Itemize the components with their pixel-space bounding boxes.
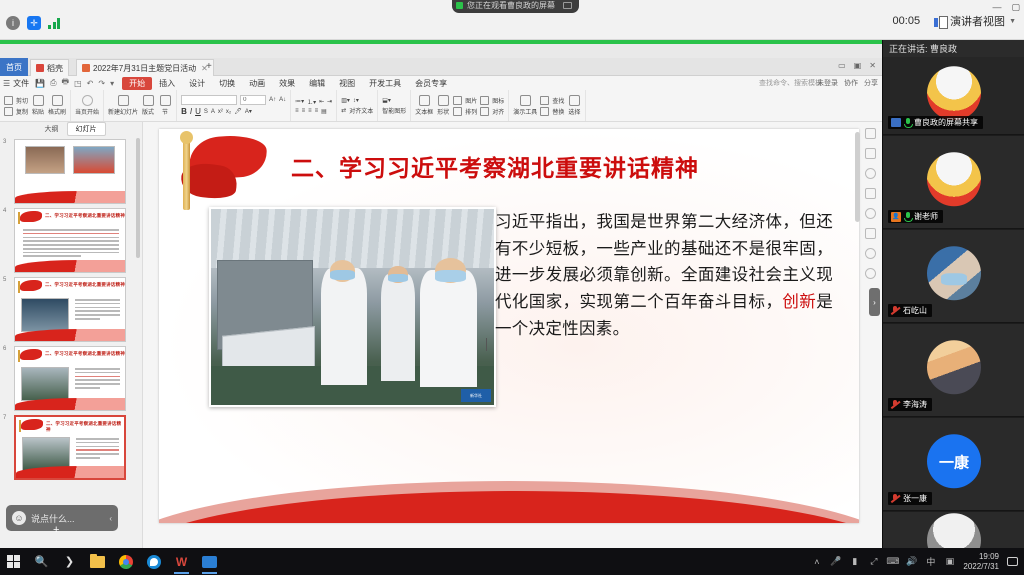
thumbnail-card[interactable]: 二、学习习近平考察湖北重要讲话精神 <box>14 415 126 480</box>
picture-icon <box>453 96 462 105</box>
notification-center-icon[interactable] <box>1007 557 1018 566</box>
bullets-button[interactable]: ≔▾ <box>295 98 304 105</box>
flag-icon <box>17 349 43 362</box>
minimize-icon[interactable]: ▭ <box>838 61 846 70</box>
slide-side-toolbar <box>862 128 878 279</box>
thumbnail-number: 7 <box>3 415 6 421</box>
search-icon[interactable]: 🔍 <box>34 554 49 569</box>
ribbon-tab-start[interactable]: 开始 <box>122 77 152 90</box>
network-icon[interactable]: ⤢ <box>868 556 879 567</box>
print-icon[interactable]: 🖶 <box>62 76 70 90</box>
thumbnail-title: 二、学习习近平考察湖北重要讲话精神 <box>46 421 124 433</box>
bold-button[interactable]: B <box>181 107 187 116</box>
paste-button[interactable]: 粘贴 <box>31 95 45 116</box>
system-tray: ˄ 🎤 ▮ ⤢ ⌨ 🔊 中 ▣ 19:09 2022/7/31 <box>811 552 1018 570</box>
font-name-input[interactable] <box>181 95 237 105</box>
list-item-selected[interactable]: 7 二、学习习近平考察湖北重要讲话精神 <box>14 415 133 480</box>
present-tools-icon <box>520 95 531 106</box>
share-active-border <box>0 40 882 44</box>
layout-icon <box>143 95 154 106</box>
ribbon-tab-developer[interactable]: 开发工具 <box>362 78 408 89</box>
task-view-icon[interactable]: ❯ <box>62 554 77 569</box>
strikethrough-button[interactable]: S <box>204 109 208 115</box>
network-signal-icon[interactable] <box>48 17 62 29</box>
volume-icon[interactable]: 🔊 <box>906 556 917 567</box>
find-button[interactable]: 查找 <box>540 96 564 105</box>
thumbnail-body-lines <box>23 229 119 259</box>
meeting-timer: 00:05 <box>893 15 921 27</box>
slide-bottom-wave-decoration <box>159 461 859 523</box>
participant-name-tag: 李海涛 <box>888 398 932 411</box>
screen-share-icon <box>891 118 901 127</box>
participant-name: 曹良政的屏幕共享 <box>914 117 978 128</box>
active-speaker-label: 正在讲话: 曹良政 <box>883 40 1024 57</box>
ribbon-tab-effects[interactable]: 效果 <box>272 78 302 89</box>
maximize-icon[interactable]: ▢ <box>1011 2 1020 13</box>
thumbnail-wave <box>15 191 125 203</box>
print-preview-icon[interactable]: ◳ <box>74 79 82 88</box>
file-explorer-icon[interactable] <box>90 554 105 569</box>
windows-taskbar: 🔍 ❯ W ˄ 🎤 ▮ ⤢ ⌨ 🔊 中 ▣ 19:09 2022/7/31 <box>0 548 1024 575</box>
wps-menu-bar: ☰ 文件 💾 ⎙ 🖶 ◳ ↶ ↷ ▾ 开始 插入 设计 切换 动画 效果 编辑 <box>0 76 882 90</box>
align-center-button[interactable]: ≡ <box>302 108 306 114</box>
decrease-indent-button[interactable]: ⇤ <box>319 98 324 105</box>
list-item[interactable]: 5 二、学习习近平考察湖北重要讲话精神 <box>14 277 133 342</box>
smartart-group: ⬓▾ 智能图形 <box>378 90 411 122</box>
avatar: 一康 <box>927 434 981 488</box>
ribbon-tab-transition[interactable]: 切换 <box>212 78 242 89</box>
avatar <box>927 66 981 120</box>
slide-thumbnail-pane: 大纲 幻灯片 3 4 <box>0 122 143 550</box>
convert-to-smartart-button[interactable]: ⬓▾ <box>382 97 391 104</box>
participant-name: 石屹山 <box>903 305 927 316</box>
slide-canvas[interactable]: 二、学习习近平考察湖北重要讲话精神 新华社 习近平指 <box>159 129 859 523</box>
menu-file[interactable]: 文件 <box>13 78 29 89</box>
thumbnail-card[interactable]: 二、学习习近平考察湖北重要讲话精神 <box>14 208 126 273</box>
thumbnail-number: 5 <box>3 277 6 283</box>
superscript-button[interactable]: x² <box>218 109 223 115</box>
flower-icon[interactable] <box>865 248 876 259</box>
copy-button[interactable]: 复制 <box>4 107 28 116</box>
ribbon-tab-edit[interactable]: 编辑 <box>302 78 332 89</box>
ppt-icon <box>82 64 90 72</box>
present-group: 当页开始 <box>71 90 104 122</box>
microphone-muted-icon <box>891 306 900 316</box>
thumbnail-title: 二、学习习近平考察湖北重要讲话精神 <box>45 351 125 357</box>
present-tools-button[interactable]: 演示工具 <box>513 95 537 116</box>
thumbnail-number: 4 <box>3 208 6 214</box>
microphone-on-icon <box>904 212 911 222</box>
wps-home-tab[interactable]: 首页 <box>0 58 28 76</box>
restore-icon[interactable]: ▣ <box>854 61 862 70</box>
new-slide-icon <box>118 95 129 106</box>
hamburger-icon[interactable]: ☰ <box>3 79 10 88</box>
slide-editor-pane[interactable]: 二、学习习近平考察湖北重要讲话精神 新华社 习近平指 <box>143 122 882 550</box>
avatar <box>927 152 981 206</box>
participant-name: 张一康 <box>903 493 927 504</box>
add-attachment-icon[interactable]: + <box>53 524 59 536</box>
shrink-font-icon[interactable]: A↓ <box>279 97 286 103</box>
text-box-icon <box>419 95 430 106</box>
subscript-button[interactable]: x₂ <box>226 109 231 115</box>
columns-button[interactable]: ▥▾ <box>341 97 350 104</box>
align-text-button[interactable]: 对齐文本 <box>349 106 373 115</box>
insert-objects-group: 文本框 形状 图片 排列 图标 对齐 <box>411 90 509 122</box>
clipboard-group: 剪切 复制 粘贴 格式刷 <box>0 90 71 122</box>
collapse-chat-icon[interactable]: ‹ <box>109 514 112 523</box>
login-status[interactable]: 未登录 <box>817 78 838 88</box>
flag-icon <box>17 280 43 293</box>
avatar <box>927 246 981 300</box>
participant-name-tag: 👤 谢老师 <box>888 210 943 223</box>
keyboard-icon[interactable]: ⌨ <box>887 556 898 567</box>
format-painter-button[interactable]: 格式刷 <box>48 95 66 116</box>
thumbnail-image <box>21 298 69 332</box>
wps-tab-presentation-label: 2022年7月31日主题党日活动 <box>93 63 196 74</box>
participant-name: 谢老师 <box>914 211 938 222</box>
docer-icon <box>36 64 44 72</box>
thumbnail-wave <box>15 329 125 341</box>
wps-window-buttons[interactable]: ▭ ▣ ✕ <box>838 61 876 70</box>
thumbnail-body-lines <box>76 438 119 461</box>
italic-button[interactable]: I <box>190 107 192 116</box>
slides-group: 新建幻灯片 版式 节 <box>104 90 177 122</box>
thumbnail-body-lines <box>75 299 120 322</box>
slide-photo[interactable]: 新华社 <box>209 207 496 407</box>
tab-slides[interactable]: 幻灯片 <box>67 122 106 136</box>
participant-name-tag: 张一康 <box>888 492 932 505</box>
text-box-button[interactable]: 文本框 <box>415 95 433 116</box>
meeting-app-icon[interactable] <box>202 554 217 569</box>
chat-placeholder: 说点什么... <box>31 512 75 525</box>
settings-gear-icon[interactable] <box>865 168 876 179</box>
view-mode-label: 演讲者视图 <box>950 13 1005 29</box>
thumbnail-number: 6 <box>3 346 6 352</box>
save-as-icon[interactable]: ⎙ <box>50 78 56 88</box>
wps-menu-right: 未登录 协作 分享 <box>817 78 878 88</box>
wps-editing-area: 大纲 幻灯片 3 4 <box>0 122 882 550</box>
slide-body-text[interactable]: 习近平指出，我国是世界第二大经济体，但还有不少短板，一些产业的基础还不是很牢固，… <box>495 209 833 343</box>
icon-button[interactable]: 图标 <box>480 96 504 105</box>
qq-browser-icon[interactable] <box>146 554 161 569</box>
arrange-button[interactable]: 排列 <box>453 107 477 116</box>
thumbnail-list[interactable]: 3 4 二、学习习近平考察湖北重要讲话精神 <box>0 136 143 534</box>
play-icon <box>82 95 93 106</box>
meeting-top-bar: 您正在观看曹良政的屏幕 i ✛ — ▢ 00:05 演讲者视图 ▼ <box>0 0 1024 40</box>
wps-ribbon-toolbar: 剪切 复制 粘贴 格式刷 当页开始 新建幻灯片 版式 节 <box>0 90 882 122</box>
text-cursor <box>486 338 487 351</box>
chrome-icon[interactable] <box>118 554 133 569</box>
copy-icon <box>4 107 13 116</box>
speaker-view-icon <box>934 16 946 27</box>
participant-strip: 正在讲话: 曹良政 曹良政的屏幕共享 👤 谢老师 石屹山 <box>882 40 1024 575</box>
grow-font-icon[interactable]: A↑ <box>269 97 276 103</box>
avatar <box>927 340 981 394</box>
qat-more-icon[interactable]: ▾ <box>110 79 114 88</box>
thumbnail-title: 二、学习习近平考察湖北重要讲话精神 <box>45 282 125 288</box>
participant-name-tag: 石屹山 <box>888 304 932 317</box>
ribbon-tab-insert[interactable]: 插入 <box>152 78 182 89</box>
increase-indent-button[interactable]: ⇥ <box>327 98 332 105</box>
thumbnail-card[interactable]: 二、学习习近平考察湖北重要讲话精神 <box>14 277 126 342</box>
quick-access-toolbar: 💾 ⎙ 🖶 ◳ ↶ ↷ ▾ <box>35 76 114 90</box>
ribbon-tab-view[interactable]: 视图 <box>332 78 362 89</box>
flag-icon <box>18 419 44 432</box>
font-group: A↑ A↓ B I U S A x² x₂ 🖊 A▾ <box>177 90 291 122</box>
chevron-down-icon: ▼ <box>1009 18 1016 25</box>
arrange-icon <box>453 107 462 116</box>
cog-icon[interactable] <box>865 268 876 279</box>
minimize-icon[interactable]: — <box>992 2 1001 13</box>
slide-vertical-scrollbar[interactable] <box>855 132 860 222</box>
command-search-box[interactable]: 查找命令、搜索模板 <box>759 78 822 88</box>
paste-icon <box>33 95 44 106</box>
tab-outline[interactable]: 大纲 <box>37 123 67 135</box>
wps-tab-docer-label: 稻壳 <box>47 63 63 74</box>
numbering-button[interactable]: ⒈▾ <box>307 97 316 106</box>
slide-body-highlight: 创新 <box>782 292 816 311</box>
thumbnail-number: 3 <box>3 139 6 145</box>
justify-button[interactable]: ≡ <box>315 108 319 114</box>
cursor-select-icon <box>569 95 580 106</box>
layout-button[interactable]: 版式 <box>141 95 155 116</box>
resize-icon[interactable] <box>865 148 876 159</box>
line-spacing-button[interactable]: ↕▾ <box>353 97 359 104</box>
shape-icon <box>438 95 449 106</box>
cut-button[interactable]: 剪切 <box>4 96 28 105</box>
participant-tile[interactable]: 👤 谢老师 <box>883 136 1024 229</box>
section-button[interactable]: 节 <box>158 95 172 116</box>
share-monitor-icon <box>563 2 572 9</box>
font-size-input[interactable] <box>240 95 266 105</box>
thumbnail-wave <box>15 260 125 272</box>
thumbnail-image <box>73 146 115 174</box>
font-color-button[interactable]: A▾ <box>245 108 252 115</box>
picture-button[interactable]: 图片 <box>453 96 477 105</box>
wps-presentation-window: 首页 稻壳 2022年7月31日主题党日活动 ✕ + ▭ ▣ ✕ <box>0 58 882 568</box>
thumbnail-title: 二、学习习近平考察湖北重要讲话精神 <box>45 213 125 219</box>
select-button[interactable]: 选择 <box>567 95 581 116</box>
thumbnail-card[interactable]: 二、学习习近平考察湖北重要讲话精神 <box>14 346 126 411</box>
icon-library-icon <box>480 96 489 105</box>
panel-expand-handle[interactable]: › <box>869 288 880 316</box>
new-tab-button[interactable]: + <box>206 61 212 72</box>
taskbar-date[interactable]: 2022/7/31 <box>963 562 999 571</box>
host-badge-icon: 👤 <box>891 212 901 222</box>
taskbar-time[interactable]: 19:09 <box>963 552 999 561</box>
app-icon[interactable]: ▣ <box>944 556 955 567</box>
new-slide-button[interactable]: 新建幻灯片 <box>108 95 138 116</box>
text-direction-button[interactable]: ⇄ <box>341 107 346 114</box>
battery-icon[interactable]: ▮ <box>849 556 860 567</box>
tools-group: 演示工具 查找 替换 选择 <box>509 90 586 122</box>
thumbnail-scrollbar[interactable] <box>136 138 140 258</box>
thumbnail-card[interactable] <box>14 139 126 204</box>
save-icon[interactable]: 💾 <box>35 79 45 88</box>
list-item[interactable]: 6 二、学习习近平考察湖北重要讲话精神 <box>14 346 133 411</box>
participant-tile[interactable]: 曹良政的屏幕共享 <box>883 57 1024 135</box>
meeting-left-icons: i ✛ <box>6 16 62 30</box>
shape-button[interactable]: 形状 <box>436 95 450 116</box>
red-flag-decoration-icon <box>171 134 266 212</box>
view-mode-button[interactable]: 演讲者视图 ▼ <box>934 13 1016 29</box>
shared-screen-area: 首页 稻壳 2022年7月31日主题党日活动 ✕ + ▭ ▣ ✕ <box>0 40 882 575</box>
thumbnail-body-lines <box>75 368 120 391</box>
participant-tile[interactable]: 一康 张一康 <box>883 418 1024 511</box>
collaborate-button[interactable]: 协作 <box>844 78 858 88</box>
distribute-button[interactable]: ▤ <box>321 108 327 115</box>
shield-icon[interactable]: ✛ <box>27 16 41 30</box>
undo-icon[interactable]: ↶ <box>87 79 94 88</box>
slide-title[interactable]: 二、学习习近平考察湖北重要讲话精神 <box>291 149 836 183</box>
window-controls[interactable]: — ▢ <box>992 2 1020 13</box>
clock-icon[interactable] <box>865 208 876 219</box>
ribbon-tab-member[interactable]: 会员专享 <box>408 78 454 89</box>
from-current-slide-button[interactable]: 当页开始 <box>75 95 99 116</box>
frame-icon[interactable] <box>865 188 876 199</box>
info-icon[interactable]: i <box>6 16 20 30</box>
align-objects-button[interactable]: 对齐 <box>480 107 504 116</box>
emoji-icon[interactable]: ☺ <box>12 511 26 525</box>
photo-credit-badge: 新华社 <box>461 389 491 402</box>
meeting-chat-input[interactable]: ☺ 说点什么... ‹ <box>6 505 118 531</box>
section-icon <box>160 95 171 106</box>
wps-icon[interactable]: W <box>174 554 189 569</box>
list-item[interactable]: 4 二、学习习近平考察湖北重要讲话精神 <box>14 208 133 273</box>
thumbnail-wave <box>16 466 124 478</box>
link-icon[interactable] <box>865 128 876 139</box>
replace-button[interactable]: 替换 <box>540 107 564 116</box>
text-shadow-button[interactable]: A <box>211 109 215 115</box>
wps-tab-docer[interactable]: 稻壳 <box>30 59 69 76</box>
share-button[interactable]: 分享 <box>864 78 878 88</box>
align-left-button[interactable]: ≡ <box>295 108 299 114</box>
flag-icon <box>17 211 43 224</box>
screen-share-indicator-icon <box>456 2 463 9</box>
paragraph-group: ≔▾ ⒈▾ ⇤ ⇥ ≡ ≡ ≡ ≡ ▤ <box>291 90 337 122</box>
list-item[interactable]: 3 <box>14 139 133 204</box>
search-icon <box>540 96 549 105</box>
microphone-muted-icon <box>891 494 900 504</box>
wps-tab-presentation[interactable]: 2022年7月31日主题党日活动 ✕ <box>76 59 214 76</box>
chevron-up-icon[interactable]: ˄ <box>811 556 822 567</box>
participant-tile[interactable]: 石屹山 <box>883 230 1024 323</box>
clock: 19:09 2022/7/31 <box>963 552 999 570</box>
highlight-color-button[interactable]: 🖊 <box>234 108 242 115</box>
cut-icon <box>4 96 13 105</box>
underline-button[interactable]: U <box>195 107 201 116</box>
close-window-icon[interactable]: ✕ <box>869 61 876 70</box>
wps-tab-strip: 首页 稻壳 2022年7月31日主题党日活动 ✕ + ▭ ▣ ✕ <box>0 58 882 76</box>
watching-screen-banner: 您正在观看曹良政的屏幕 <box>452 0 579 13</box>
microphone-on-icon <box>904 118 911 128</box>
align-right-button[interactable]: ≡ <box>308 108 312 114</box>
ime-icon[interactable]: 中 <box>925 556 936 567</box>
ribbon-tab-design[interactable]: 设计 <box>182 78 212 89</box>
format-painter-icon <box>52 95 63 106</box>
spacing-group: ▥▾↕▾ ⇄对齐文本 <box>337 90 378 122</box>
start-icon[interactable] <box>6 554 21 569</box>
smart-layout-button[interactable]: 智能图形 <box>382 106 406 115</box>
microphone-muted-icon <box>891 400 900 410</box>
participant-tile[interactable]: 李海涛 <box>883 324 1024 417</box>
thumbnail-view-tabs: 大纲 幻灯片 <box>0 122 142 136</box>
thumbnail-image <box>21 367 69 401</box>
image-icon[interactable] <box>865 228 876 239</box>
watching-screen-text: 您正在观看曹良政的屏幕 <box>467 0 555 13</box>
microphone-icon[interactable]: 🎤 <box>830 556 841 567</box>
meeting-top-right: 00:05 演讲者视图 ▼ <box>893 13 1016 29</box>
participant-name: 李海涛 <box>903 399 927 410</box>
replace-icon <box>540 107 549 116</box>
ribbon-tab-animation[interactable]: 动画 <box>242 78 272 89</box>
redo-icon[interactable]: ↷ <box>98 79 105 88</box>
participant-name-tag: 曹良政的屏幕共享 <box>888 116 983 129</box>
align-objects-icon <box>480 107 489 116</box>
thumbnail-wave <box>15 398 125 410</box>
thumbnail-image <box>25 146 65 174</box>
